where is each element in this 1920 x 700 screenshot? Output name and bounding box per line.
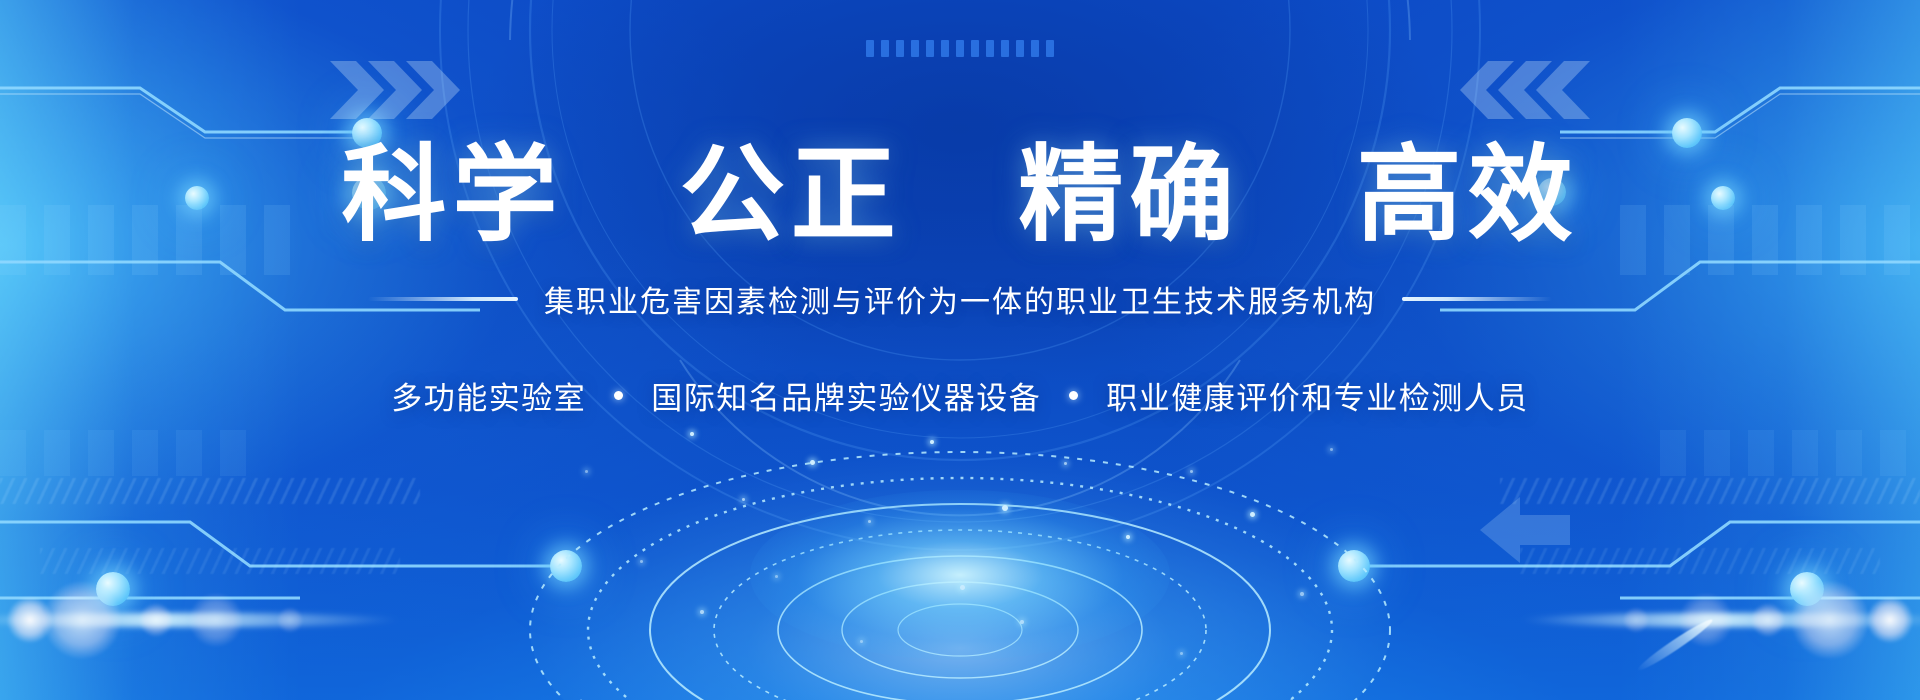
feature-item-1: 多功能实验室	[391, 373, 586, 418]
divider-line-left	[368, 297, 518, 301]
headline-word-3: 精确	[1018, 140, 1240, 251]
banner-content: 科学 公正 精确 高效 集职业危害因素检测与评价为一体的职业卫生技术服务机构 多…	[0, 0, 1920, 700]
bullet-separator-icon-2	[1069, 391, 1078, 400]
marketing-banner: 科学 公正 精确 高效 集职业危害因素检测与评价为一体的职业卫生技术服务机构 多…	[0, 0, 1920, 700]
feature-item-3: 职业健康评价和专业检测人员	[1106, 373, 1529, 418]
headline-word-1: 科学	[341, 140, 563, 251]
page-title: 科学 公正 精确 高效	[341, 140, 1578, 251]
feature-list: 多功能实验室 国际知名品牌实验仪器设备 职业健康评价和专业检测人员	[391, 373, 1529, 418]
feature-item-2: 国际知名品牌实验仪器设备	[651, 373, 1041, 418]
headline-word-4: 高效	[1357, 140, 1579, 251]
bullet-separator-icon-1	[614, 391, 623, 400]
headline-word-2: 公正	[680, 140, 902, 251]
divider-line-right	[1402, 297, 1552, 301]
subtitle-row: 集职业危害因素检测与评价为一体的职业卫生技术服务机构	[368, 277, 1552, 321]
banner-subtitle: 集职业危害因素检测与评价为一体的职业卫生技术服务机构	[544, 277, 1376, 321]
